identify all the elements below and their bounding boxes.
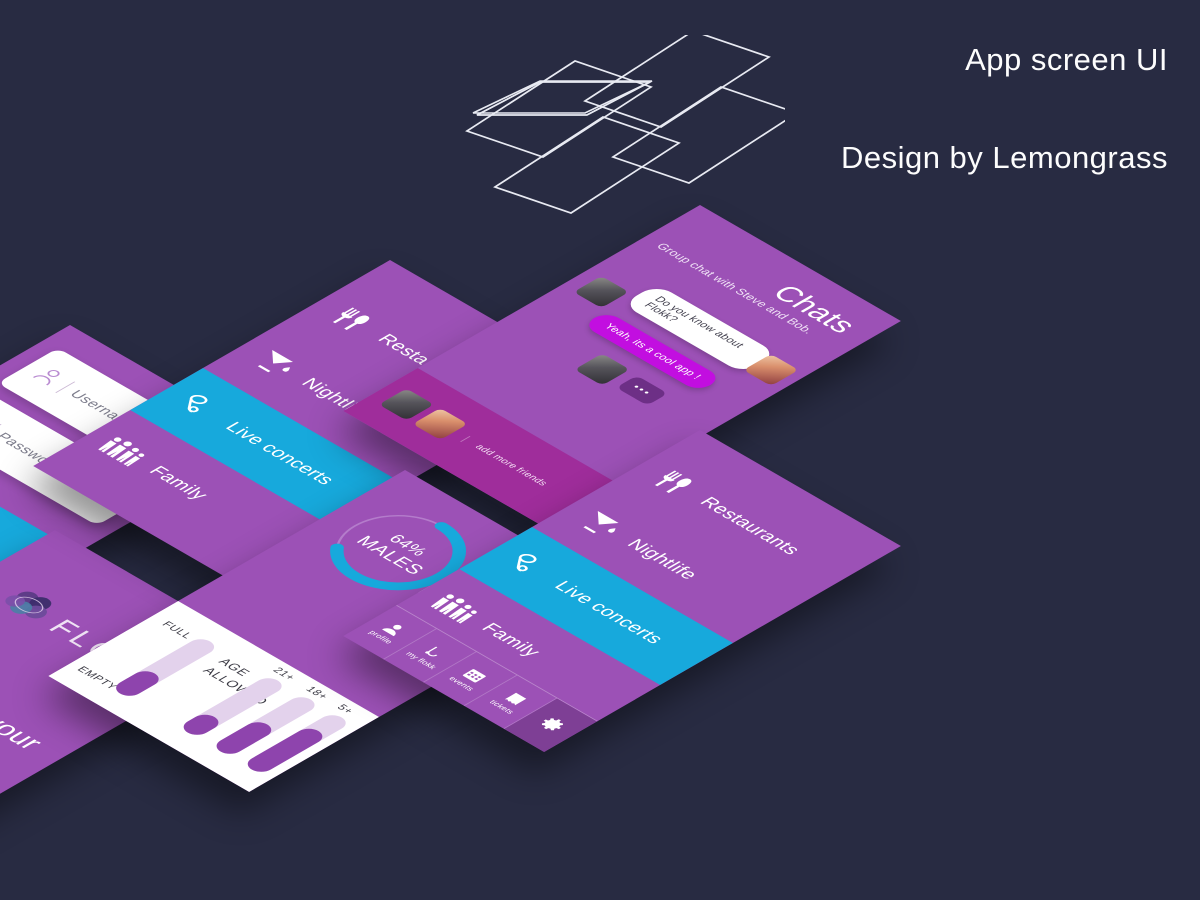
tagline: events at your fingertips !	[0, 647, 51, 772]
family-icon	[86, 431, 159, 473]
category-label: Family	[476, 621, 545, 661]
presentation-canvas: App screen UI Design by Lemongrass	[0, 0, 1200, 900]
isometric-screens-logo-icon	[455, 35, 785, 215]
tagline-line-1: events at your	[0, 647, 51, 755]
microphone-icon	[162, 387, 235, 429]
cocktail-icon	[238, 343, 311, 385]
gear-icon	[535, 715, 570, 735]
cocktail-icon	[564, 504, 637, 546]
capacity-top-label: FULL	[159, 620, 195, 641]
user-avatar-icon	[25, 364, 69, 390]
avatar	[574, 354, 629, 386]
category-label: Family	[143, 464, 212, 504]
typing-indicator: •••	[616, 376, 668, 406]
microphone-icon	[491, 546, 564, 588]
avatar[interactable]	[412, 408, 467, 440]
friend-avatars	[367, 382, 468, 441]
add-more-friends-button[interactable]: add more friends	[461, 436, 550, 488]
age-option-label: 5+	[334, 703, 356, 716]
fork-knife-icon	[315, 299, 388, 341]
fork-knife-icon	[637, 462, 710, 504]
categories-nav-screen: Restaurants Nightlife	[343, 430, 901, 752]
page-subtitle: Design by Lemongrass	[841, 140, 1168, 176]
capacity-slider[interactable]	[111, 636, 220, 699]
category-label: Nightlife	[621, 537, 702, 584]
avatar	[574, 276, 629, 308]
page-title: App screen UI	[965, 42, 1168, 78]
capacity-bottom-label: EMPTY	[74, 665, 120, 691]
